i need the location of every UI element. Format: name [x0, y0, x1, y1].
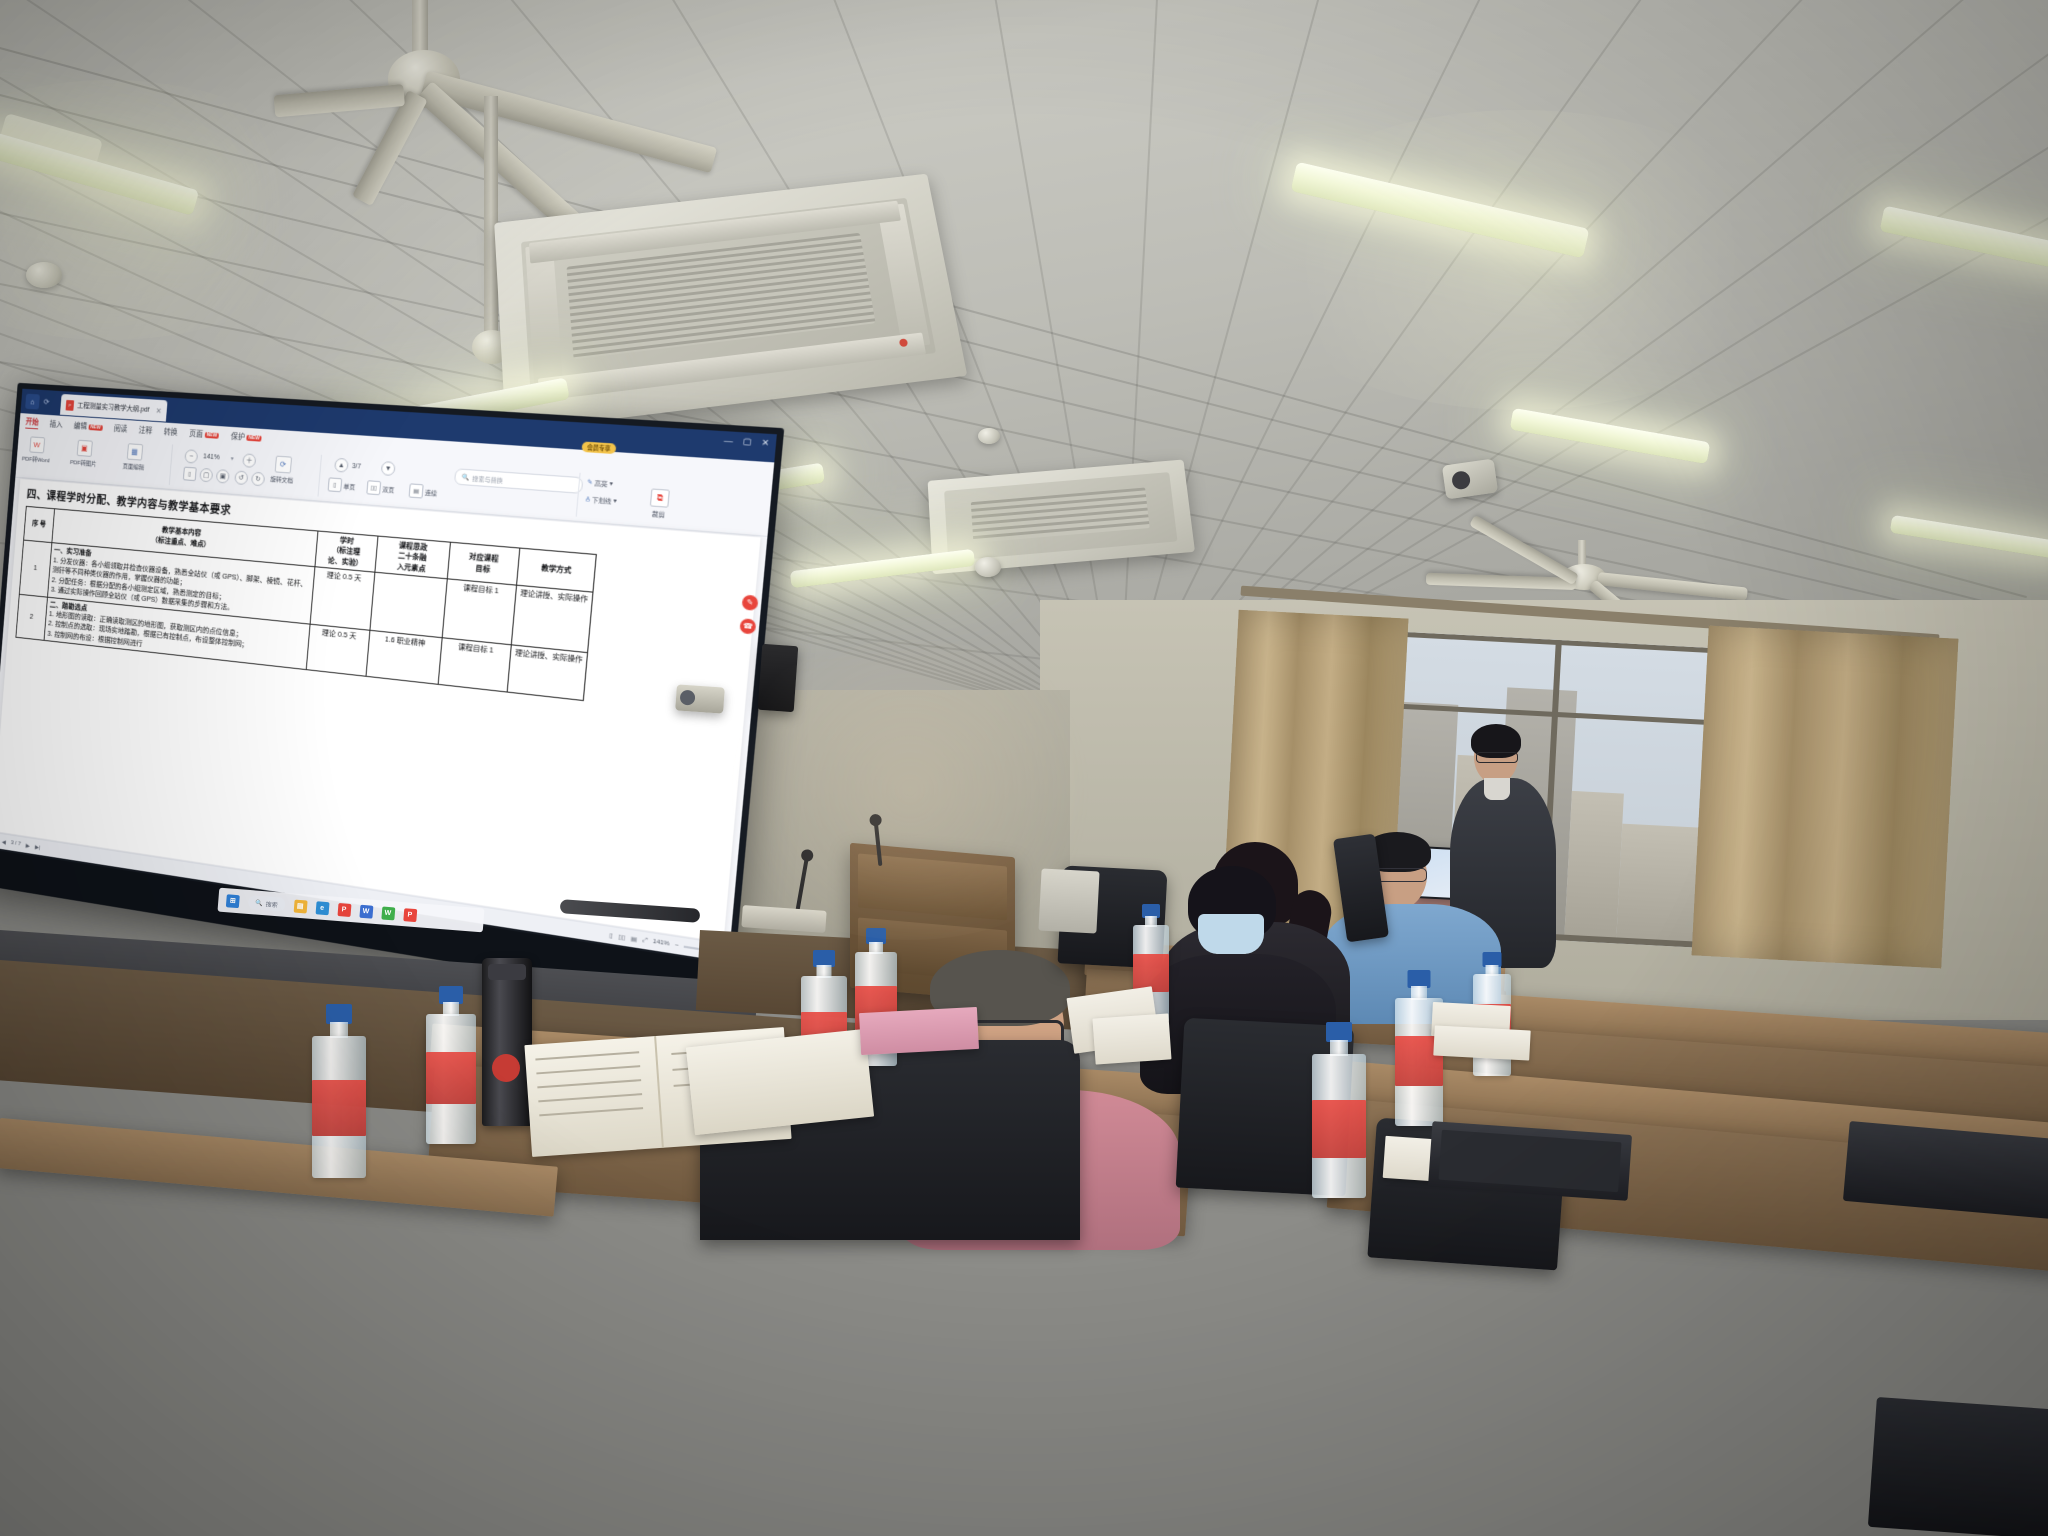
- water-bottle[interactable]: [308, 1004, 370, 1179]
- ribbon-pdf-to-image[interactable]: ▣ PDF转图片: [70, 439, 98, 467]
- page-indicator: 3/7: [352, 463, 361, 471]
- edge-browser-icon[interactable]: e: [315, 901, 329, 915]
- curtain-right: [1692, 626, 1959, 969]
- wps-presentation-icon[interactable]: P: [337, 902, 351, 916]
- col-header-goal: 对应课程 目标: [447, 542, 520, 585]
- equipment-box: [1038, 869, 1099, 934]
- col-header-index: 序 号: [24, 506, 55, 543]
- fan-blade: [274, 84, 405, 117]
- thermos[interactable]: [482, 958, 532, 1126]
- crop-icon: ⧉: [650, 488, 670, 507]
- page-edit-icon: ▦: [126, 443, 142, 460]
- laptop[interactable]: [1868, 1397, 2048, 1536]
- view-continuous[interactable]: ▤ 连续: [409, 483, 438, 499]
- taskbar-search[interactable]: 🔍 搜索: [248, 895, 285, 912]
- service-icon[interactable]: ☎: [739, 618, 756, 635]
- maximize-icon[interactable]: ▢: [743, 437, 752, 447]
- double-page-icon: ▯▯: [366, 480, 381, 495]
- smoke-detector-1: [26, 262, 62, 288]
- double-view-icon[interactable]: ▯▯: [618, 933, 626, 941]
- menu-item-edit[interactable]: 编辑NEW: [74, 420, 103, 432]
- wechat-icon[interactable]: W: [381, 906, 395, 920]
- chevron-down-icon[interactable]: ▾: [609, 480, 613, 488]
- cell-method: 理论讲授、实际操作: [507, 644, 587, 700]
- wall-speaker: [758, 644, 799, 712]
- single-page-icon: ▯: [328, 477, 343, 492]
- refresh-icon[interactable]: ⟳: [43, 398, 49, 407]
- laptop[interactable]: [1428, 1121, 1632, 1201]
- next-page-icon[interactable]: ▶: [26, 842, 30, 849]
- classroom-scene: ⌂ ⟳ P 工程测量实习教学大纲.pdf ✕ — ▢ ✕ 开始: [0, 0, 2048, 1536]
- close-icon[interactable]: ✕: [761, 438, 769, 448]
- projector-screen: ⌂ ⟳ P 工程测量实习教学大纲.pdf ✕ — ▢ ✕ 开始: [0, 404, 740, 944]
- pdf-to-image-icon: ▣: [76, 440, 92, 457]
- eyeglasses: [1476, 752, 1518, 763]
- new-badge: NEW: [204, 432, 219, 439]
- chevron-down-icon[interactable]: ▾: [613, 497, 617, 505]
- cell-index: 1: [19, 540, 51, 596]
- cell-index: 2: [16, 594, 47, 641]
- search-placeholder: 搜索与替换: [472, 473, 503, 484]
- chevron-down-icon[interactable]: ▾: [230, 455, 233, 462]
- last-page-icon[interactable]: ▶|: [35, 843, 41, 850]
- cell-hours: 理论 0.5 天: [310, 567, 375, 630]
- cell-goal: 课程目标 1: [442, 579, 517, 644]
- ribbon-rotate-doc[interactable]: ⟳ 旋转文档: [270, 455, 295, 484]
- zoom-out-icon[interactable]: −: [675, 942, 679, 949]
- view-single-page[interactable]: ▯ 单页: [328, 477, 356, 493]
- fit-icon[interactable]: ⤢: [642, 937, 648, 945]
- underline-icon: A̲: [585, 496, 590, 503]
- rotate-doc-icon: ⟳: [274, 456, 291, 474]
- menu-item-page[interactable]: 页面NEW: [189, 428, 220, 441]
- fan-blade: [1597, 572, 1748, 601]
- close-icon[interactable]: ✕: [155, 406, 162, 415]
- projector: [675, 684, 725, 713]
- menu-item-insert[interactable]: 插入: [49, 418, 63, 429]
- zoom-level-label: 141%: [203, 453, 220, 461]
- cell-ideology: [370, 572, 447, 637]
- collar: [1484, 778, 1510, 800]
- ribbon-pdf-to-word[interactable]: W PDF转Word: [22, 436, 52, 464]
- smoke-detector-2: [975, 557, 1001, 577]
- cell-hours: 理论 0.5 天: [306, 624, 370, 677]
- view-double-page[interactable]: ▯▯ 双页: [366, 480, 395, 496]
- pdf-file-icon: P: [66, 399, 75, 410]
- file-explorer-icon[interactable]: ▤: [293, 899, 307, 913]
- col-header-hours: 学时 （标注理 论、实验）: [315, 531, 378, 573]
- notebook[interactable]: [859, 1007, 979, 1055]
- cell-ideology: 1.6 职业精神: [366, 630, 442, 685]
- feedback-icon[interactable]: ✎: [741, 594, 758, 610]
- vip-chip[interactable]: 会员专享: [581, 441, 616, 454]
- status-zoom: 141%: [653, 939, 670, 948]
- wall-camera: [1442, 459, 1498, 500]
- notebook-page[interactable]: [1092, 1013, 1171, 1064]
- windows-start-icon[interactable]: ⊞: [226, 894, 240, 908]
- menu-item-annotate[interactable]: 注释: [138, 424, 152, 435]
- menu-item-read[interactable]: 阅读: [113, 423, 127, 434]
- cell-goal: 课程目标 1: [438, 637, 512, 692]
- tool-highlight[interactable]: ✎ 高亮 ▾: [587, 478, 613, 489]
- new-badge: NEW: [88, 424, 102, 431]
- water-bottle[interactable]: [422, 986, 480, 1146]
- menu-item-convert[interactable]: 转换: [163, 426, 177, 438]
- search-icon: 🔍: [255, 899, 263, 907]
- status-page-indicator: 3 / 7: [11, 840, 21, 847]
- tool-crop[interactable]: ⧉ 裁剪: [649, 488, 670, 519]
- pdf-reader-icon[interactable]: P: [403, 908, 417, 922]
- highlight-icon: ✎: [587, 479, 593, 487]
- face-mask: [1198, 914, 1264, 954]
- smoke-detector-3: [978, 428, 1000, 444]
- new-badge: NEW: [247, 434, 262, 441]
- search-placeholder: 搜索: [265, 899, 278, 909]
- ribbon-page-edit[interactable]: ▦ 页面编辑: [122, 443, 146, 471]
- minimize-icon[interactable]: —: [724, 435, 734, 445]
- cell-method: 理论讲授、实际操作: [512, 585, 593, 652]
- document-tab-title: 工程测量实习教学大纲.pdf: [77, 401, 150, 415]
- pdf-to-word-icon: W: [29, 436, 45, 453]
- notebook-page[interactable]: [1433, 1026, 1530, 1061]
- scroll-view-icon[interactable]: ▤: [630, 935, 637, 943]
- wps-writer-icon[interactable]: W: [359, 904, 373, 918]
- fan-blade: [1426, 573, 1576, 590]
- menu-item-protect[interactable]: 保护NEW: [231, 430, 262, 443]
- water-bottle[interactable]: [1308, 1022, 1370, 1200]
- single-view-icon[interactable]: ▯: [609, 932, 613, 940]
- menu-item-start[interactable]: 开始: [25, 416, 39, 429]
- open-book[interactable]: [686, 1029, 874, 1135]
- prev-page-icon[interactable]: ◀: [2, 838, 6, 845]
- search-icon: 🔍: [461, 473, 469, 481]
- home-tab-button[interactable]: ⌂: [25, 394, 40, 410]
- fit-width-icon[interactable]: ▯: [183, 467, 197, 482]
- continuous-icon: ▤: [409, 483, 424, 498]
